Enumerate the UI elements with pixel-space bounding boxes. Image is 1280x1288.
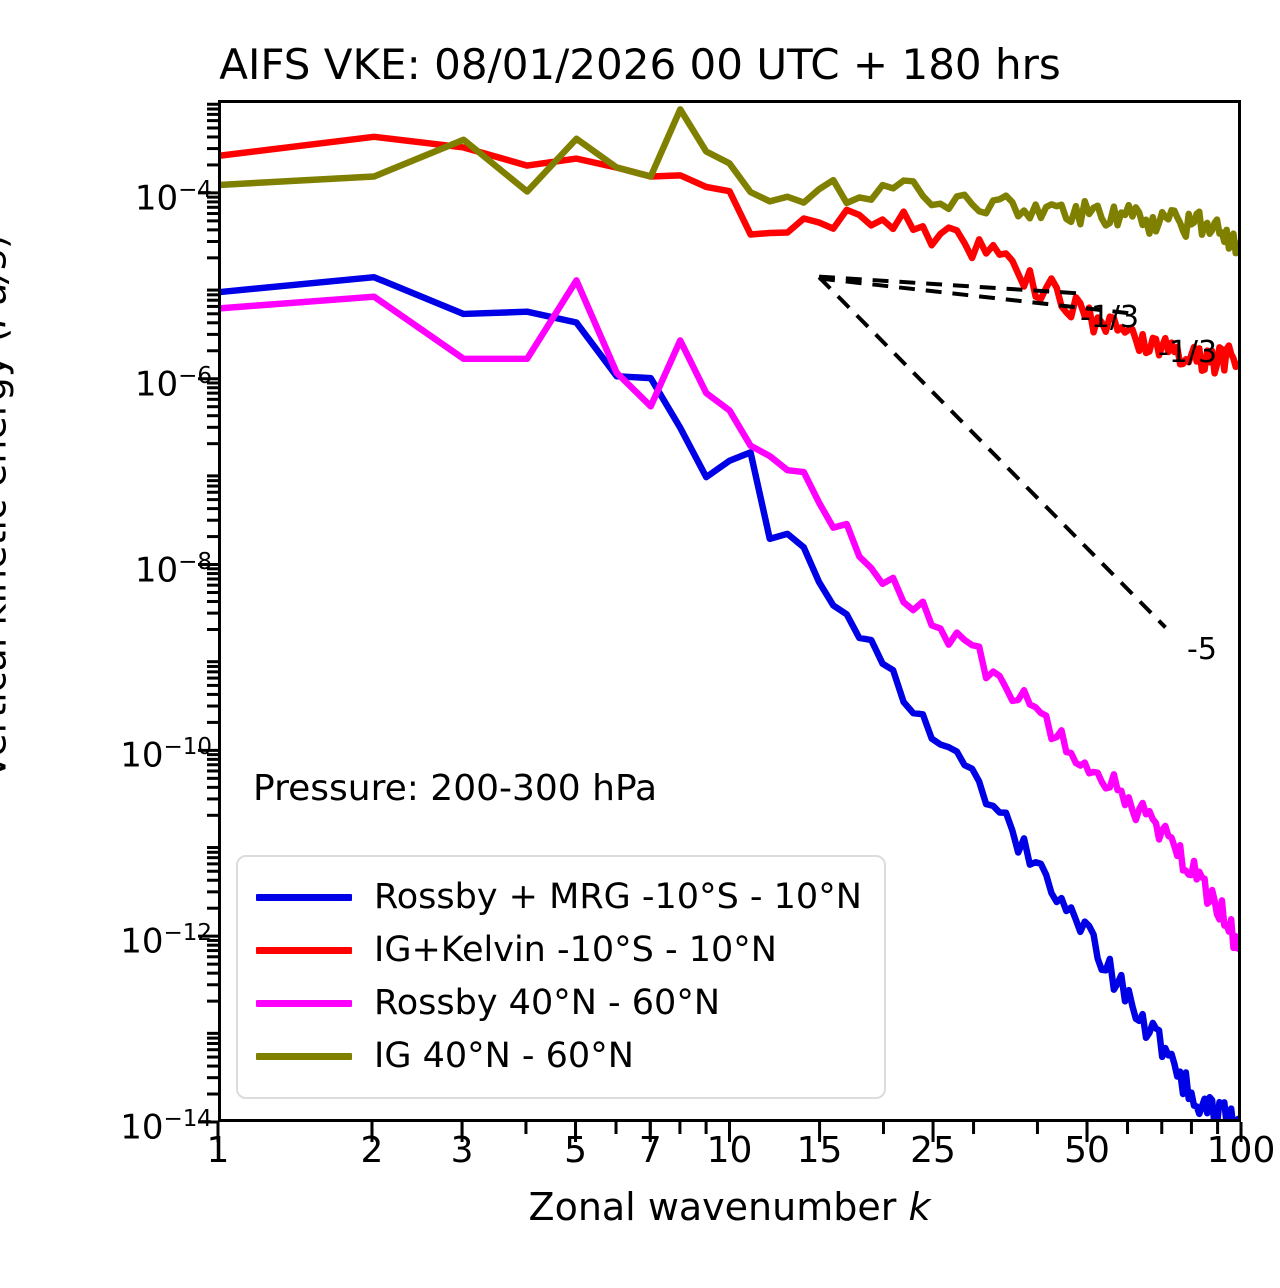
legend: Rossby + MRG -10°S - 10°NIG+Kelvin -10°S… xyxy=(236,855,886,1099)
x-tick-label: 100 xyxy=(1181,1130,1280,1171)
y-tick-base: 10 xyxy=(135,178,178,218)
y-tick-base: 10 xyxy=(120,1107,163,1147)
y-tick-base: 10 xyxy=(135,364,178,404)
x-tick-label: 15 xyxy=(760,1130,880,1171)
x-axis-title: Zonal wavenumber k xyxy=(218,1185,1241,1229)
legend-color-swatch xyxy=(256,1053,352,1060)
y-tick-label: 10−4 xyxy=(135,173,212,215)
y-tick-base: 10 xyxy=(120,736,163,776)
legend-item-label: IG+Kelvin -10°S - 10°N xyxy=(374,933,777,968)
y-tick-exponent: −14 xyxy=(163,1106,212,1132)
legend-color-swatch xyxy=(256,894,352,901)
y-tick-label: 10−8 xyxy=(135,545,212,587)
legend-item[interactable]: IG+Kelvin -10°S - 10°N xyxy=(256,924,862,977)
y-tick-base: 10 xyxy=(120,922,163,962)
y-tick-label: 10−14 xyxy=(120,1102,212,1144)
legend-color-swatch xyxy=(256,1000,352,1007)
x-tick-label: 25 xyxy=(873,1130,993,1171)
legend-item[interactable]: IG 40°N - 60°N xyxy=(256,1030,862,1083)
slope-label-lower: -1/3 xyxy=(1158,335,1217,370)
y-axis-title-italic: Pa/s xyxy=(0,249,14,328)
y-axis-title-text: Vertical kinetic energy ( xyxy=(0,328,14,780)
slope-label-minus5: -5 xyxy=(1187,632,1217,667)
x-tick-label: 3 xyxy=(402,1130,522,1171)
series-line xyxy=(221,137,1238,374)
y-tick-exponent: −6 xyxy=(178,363,212,389)
x-axis-title-text: Zonal wavenumber xyxy=(529,1185,909,1229)
y-tick-base: 10 xyxy=(135,550,178,590)
slope-label-upper: -1/3 xyxy=(1080,300,1139,335)
y-axis-title: Vertical kinetic energy (Pa/s)2 xyxy=(0,0,14,1049)
x-tick-label: 50 xyxy=(1027,1130,1147,1171)
legend-item-label: IG 40°N - 60°N xyxy=(374,1039,634,1074)
pressure-annotation: Pressure: 200-300 hPa xyxy=(253,768,657,809)
legend-color-swatch xyxy=(256,947,352,954)
legend-item[interactable]: Rossby 40°N - 60°N xyxy=(256,977,862,1030)
y-tick-label: 10−6 xyxy=(135,359,212,401)
y-tick-label: 10−10 xyxy=(120,730,212,772)
legend-item-label: Rossby + MRG -10°S - 10°N xyxy=(374,880,862,915)
y-tick-exponent: −8 xyxy=(178,549,212,575)
x-axis-title-italic: k xyxy=(908,1185,930,1229)
series-line xyxy=(221,280,1238,948)
y-tick-exponent: −10 xyxy=(163,734,212,760)
vke-spectrum-figure: AIFS VKE: 08/01/2026 00 UTC + 180 hrs 12… xyxy=(0,0,1280,1288)
y-tick-label: 10−12 xyxy=(120,916,212,958)
y-axis-title-tail: ) xyxy=(0,234,14,249)
series-line xyxy=(221,109,1238,253)
page-title: AIFS VKE: 08/01/2026 00 UTC + 180 hrs xyxy=(0,40,1280,90)
y-tick-exponent: −12 xyxy=(163,920,212,946)
legend-item[interactable]: Rossby + MRG -10°S - 10°N xyxy=(256,871,862,924)
y-tick-exponent: −4 xyxy=(178,177,212,203)
legend-item-label: Rossby 40°N - 60°N xyxy=(374,986,720,1021)
